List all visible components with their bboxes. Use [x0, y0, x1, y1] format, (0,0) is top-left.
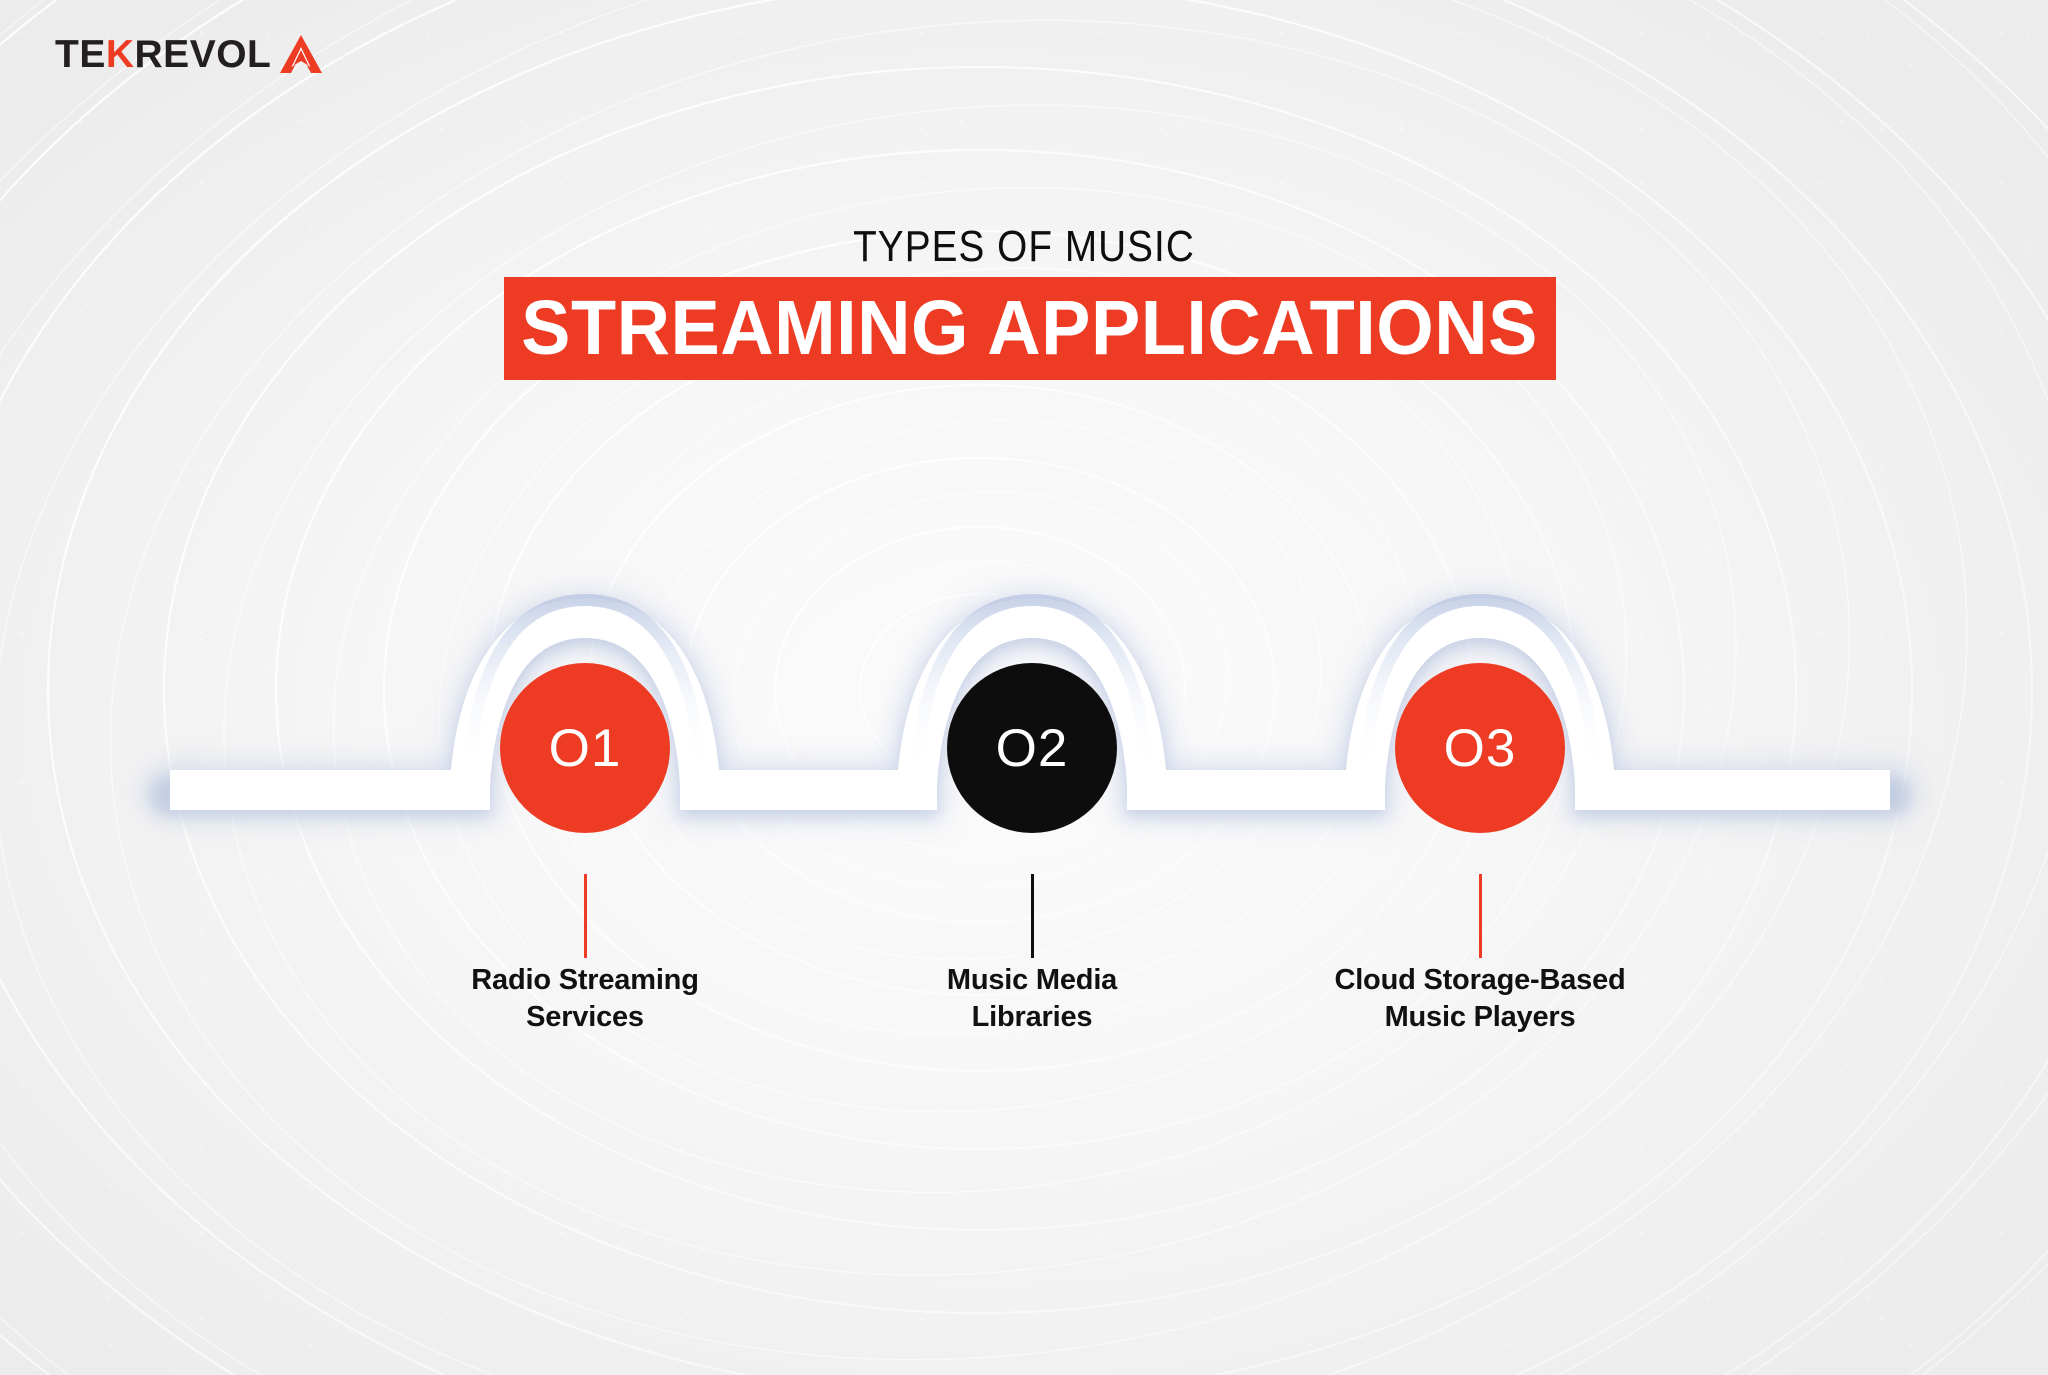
page-eyebrow-heading: TYPES OF MUSIC — [123, 222, 1925, 272]
logo-text-post: REVOL — [135, 35, 272, 74]
step-caption-1: Radio Streaming Services — [375, 962, 795, 1036]
logo-text-k: K — [106, 35, 135, 74]
step-caption-3-line2: Music Players — [1270, 999, 1690, 1036]
step-node-2[interactable]: O2 — [947, 663, 1117, 833]
step-number-3: O3 — [1444, 722, 1517, 775]
step-caption-2-line2: Libraries — [822, 999, 1242, 1036]
infographic-canvas: TEKREVOL TYPES OF MUSIC STREAMING APPLIC… — [0, 0, 2048, 1375]
step-number-1: O1 — [549, 722, 622, 775]
step-caption-3-line1: Cloud Storage-Based — [1270, 962, 1690, 999]
logo-wordmark: TEKREVOL — [55, 35, 271, 74]
step-caption-1-line1: Radio Streaming — [375, 962, 795, 999]
title-banner: STREAMING APPLICATIONS — [504, 277, 1556, 380]
step-number-2: O2 — [996, 722, 1069, 775]
step-caption-1-line2: Services — [375, 999, 795, 1036]
step-caption-2: Music Media Libraries — [822, 962, 1242, 1036]
tekrevol-logo[interactable]: TEKREVOL — [55, 34, 323, 74]
page-title: STREAMING APPLICATIONS — [522, 290, 1539, 367]
step-stem-1 — [584, 874, 587, 958]
logo-text-pre: TE — [55, 35, 106, 74]
step-caption-2-line1: Music Media — [822, 962, 1242, 999]
step-stem-3 — [1479, 874, 1482, 958]
step-stem-2 — [1031, 874, 1034, 958]
step-node-1[interactable]: O1 — [500, 663, 670, 833]
step-node-3[interactable]: O3 — [1395, 663, 1565, 833]
tekrevol-triangle-mark-icon — [279, 34, 323, 74]
step-caption-3: Cloud Storage-Based Music Players — [1270, 962, 1690, 1036]
